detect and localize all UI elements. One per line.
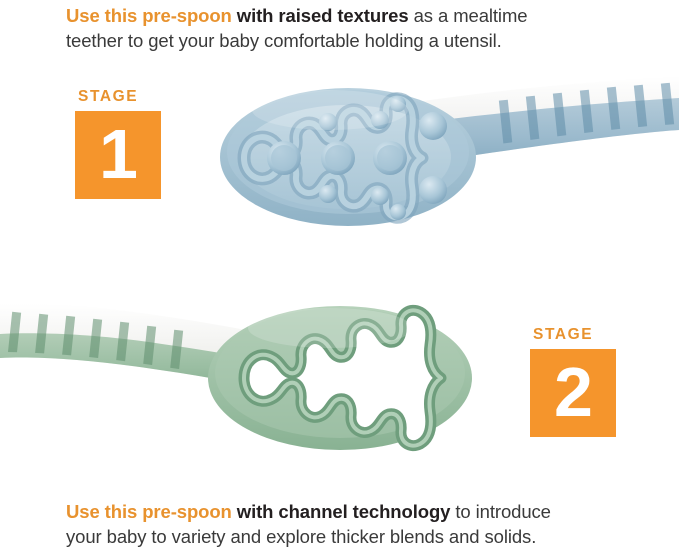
caption-lead-text: Use this pre-spoon (66, 501, 232, 522)
stage-square-2: 2 (530, 349, 616, 437)
stage-square-1: 1 (75, 111, 161, 199)
pre-spoon-stage-2-image (0, 292, 485, 464)
product-feature-graphic: Use this pre-spoon with raised textures … (0, 0, 679, 551)
stage-badge-1: STAGE 1 (75, 88, 161, 199)
pre-spoon-stage-1-image (200, 70, 679, 240)
caption-stage-1: Use this pre-spoon with raised textures … (66, 3, 646, 53)
caption-strong-text: with channel technology (232, 501, 451, 522)
caption-second-line: teether to get your baby comfortable hol… (66, 28, 646, 53)
stage-label-2: STAGE (530, 326, 616, 344)
caption-rest-text: to introduce (450, 501, 551, 522)
caption-rest-text: as a mealtime (409, 5, 528, 26)
stage-label-1: STAGE (75, 88, 161, 106)
stage-number-1: 1 (99, 119, 137, 189)
stage-badge-2: STAGE 2 (530, 326, 616, 437)
caption-strong-text: with raised textures (232, 5, 409, 26)
caption-stage-2: Use this pre-spoon with channel technolo… (66, 499, 646, 549)
caption-second-line: your baby to variety and explore thicker… (66, 524, 646, 549)
caption-lead-text: Use this pre-spoon (66, 5, 232, 26)
stage-number-2: 2 (554, 357, 592, 427)
